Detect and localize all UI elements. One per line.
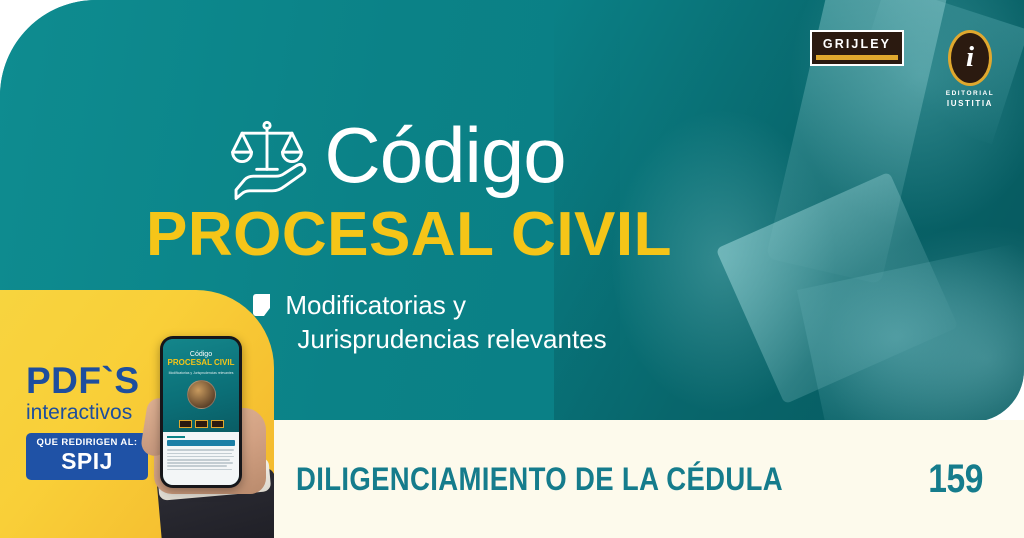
phone-logo-3: [211, 420, 224, 428]
phone-doc-line: [167, 462, 233, 464]
page-subtitle: PROCESAL CIVIL: [0, 204, 790, 266]
hand-holding-phone: Código PROCESAL CIVIL Modificatorias y J…: [124, 312, 274, 538]
phone-screen-title: Código: [163, 351, 239, 358]
phone-screen-cover: Código PROCESAL CIVIL Modificatorias y J…: [163, 339, 239, 432]
page-title: Código: [324, 118, 565, 193]
phone-screen: Código PROCESAL CIVIL Modificatorias y J…: [163, 339, 239, 485]
iustitia-logo-oval: i: [948, 30, 992, 86]
phone-screen-document: [163, 432, 239, 485]
grijley-logo-text: GRIJLEY: [812, 38, 902, 51]
phone-doc-line: [167, 469, 232, 471]
footer-page-number: 159: [928, 457, 983, 502]
tagline-line-1: Modificatorias y: [285, 288, 606, 322]
iustitia-logo: i EDITORIAL IUSTITIA: [938, 30, 1002, 109]
phone-doc-heading-bar: [167, 440, 235, 446]
phone-doc-line: [167, 449, 234, 451]
phone-doc-line: [167, 465, 227, 467]
phone-doc-line: [167, 456, 234, 458]
phone-screen-subtitle: Modificatorias y Jurisprudencias relevan…: [163, 371, 239, 375]
iustitia-logo-line2: IUSTITIA: [947, 99, 993, 109]
tagline-line-2: Jurisprudencias relevantes: [285, 322, 606, 356]
phone-screen-logos: [163, 420, 239, 428]
phone-screen-title-bold: PROCESAL CIVIL: [163, 359, 239, 367]
phone-screen-image: [187, 380, 216, 409]
promo-banner: GRIJLEY i EDITORIAL IUSTITIA: [0, 0, 1024, 538]
tagline-lines: Modificatorias y Jurisprudencias relevan…: [285, 288, 606, 357]
phone-logo-2: [195, 420, 208, 428]
title-row: Código: [0, 112, 790, 198]
scales-of-justice-in-hand-icon: [224, 116, 310, 202]
footer-title: DILIGENCIAMIENTO DE LA CÉDULA: [296, 461, 783, 498]
footer-content: DILIGENCIAMIENTO DE LA CÉDULA 159: [296, 420, 988, 538]
phone-doc-line: [167, 459, 230, 461]
phone-doc-kicker: [167, 436, 185, 438]
grijley-logo: GRIJLEY: [810, 30, 904, 66]
publisher-logos: GRIJLEY i EDITORIAL IUSTITIA: [810, 30, 1002, 109]
phone-mockup: Código PROCESAL CIVIL Modificatorias y J…: [160, 336, 242, 488]
phone-doc-line: [167, 453, 232, 455]
grijley-logo-bar: [816, 55, 898, 60]
phone-logo-1: [179, 420, 192, 428]
iustitia-logo-line1: EDITORIAL: [946, 90, 994, 98]
iustitia-monogram: i: [966, 43, 974, 72]
promo-panel-pdf-interactivos: PDF`S interactivos QUE REDIRIGEN AL: SPI…: [0, 290, 274, 538]
